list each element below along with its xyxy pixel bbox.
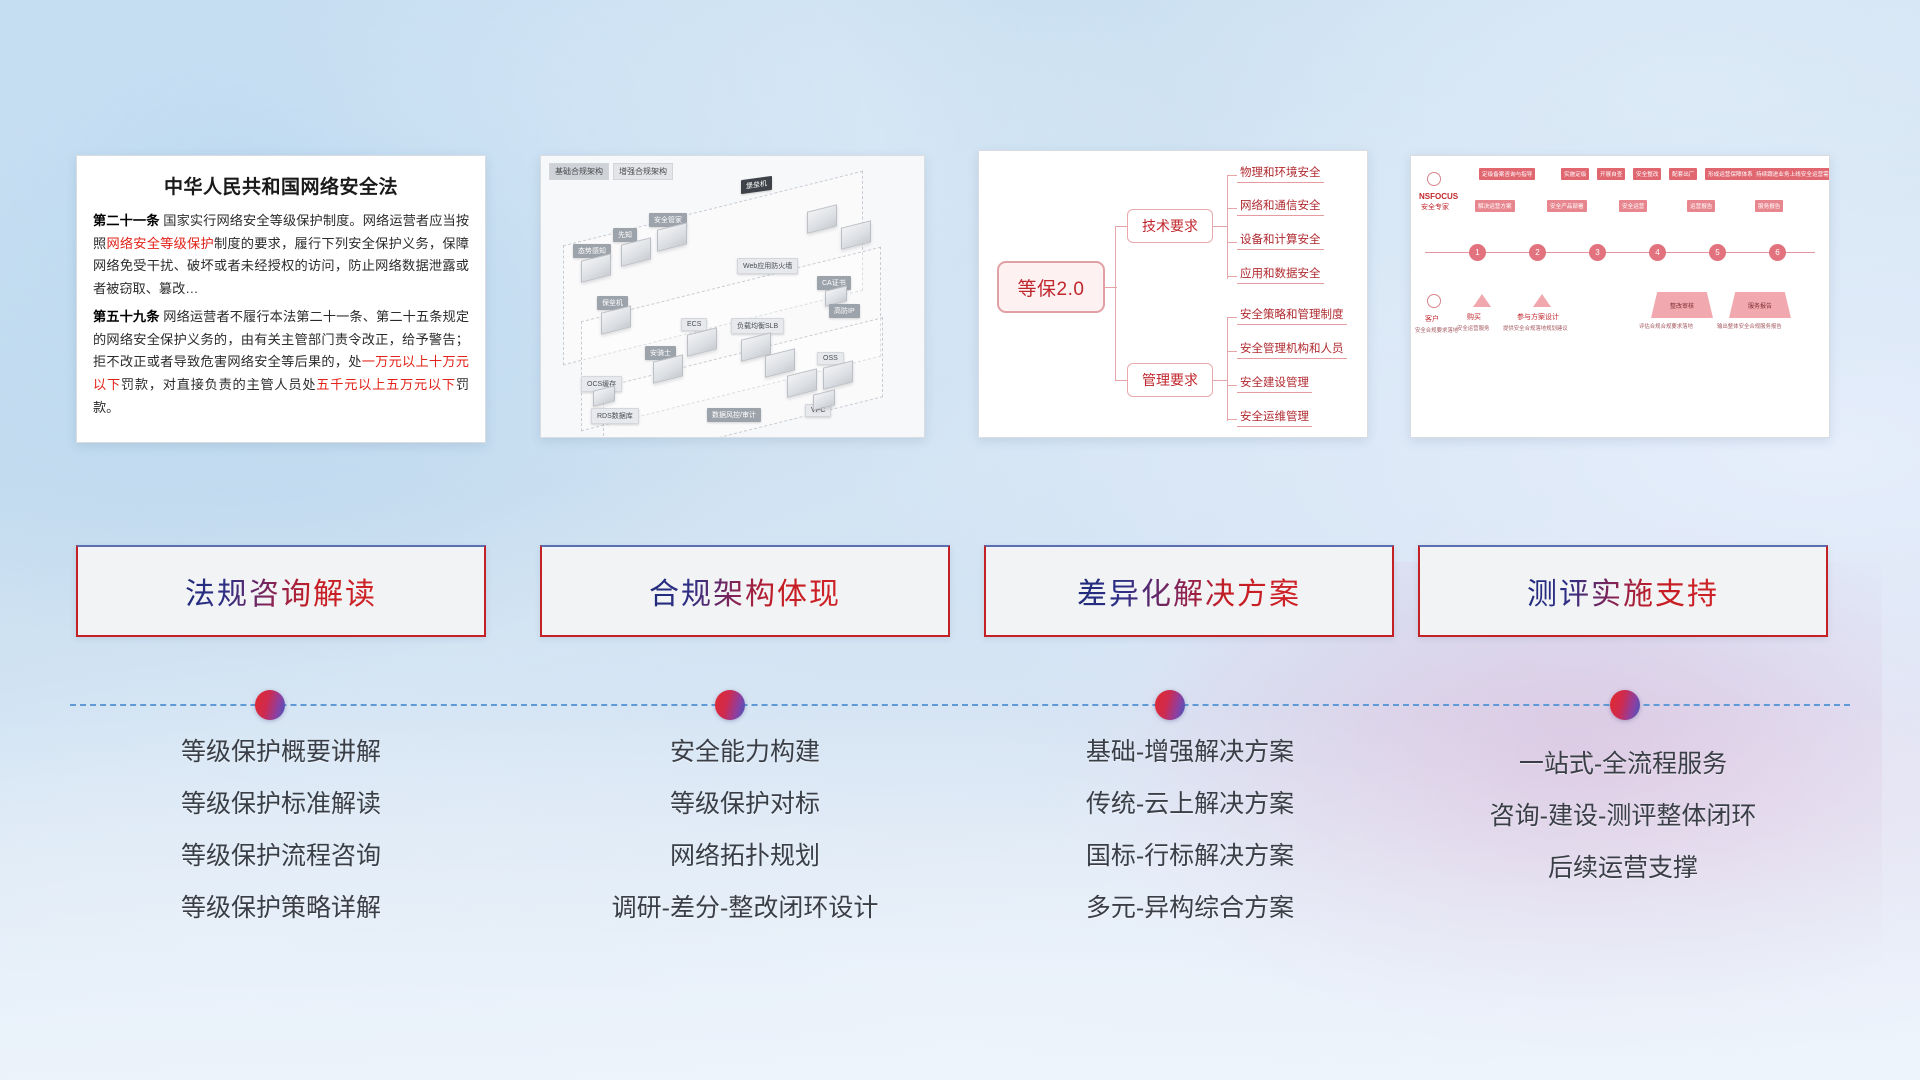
arch-node-waf: Web应用防火墙 [737,258,798,274]
roadmap-header-chip-7: 持续跟进业务上线安全运营需求 [1753,168,1830,180]
detail-column-1: 等级保护概要讲解 等级保护标准解读 等级保护流程咨询 等级保护策略详解 [76,740,486,948]
mindmap-leaf-link-t1 [1227,175,1237,176]
mindmap-leaf-spine-technical [1227,175,1228,279]
mindmap-leaf-link-t2 [1227,208,1237,209]
arch-node-xianzhi: 先知 [613,228,637,242]
architecture-canvas: 基础合规架构 增强合规架构 堡垒机 安全管家 先知 态势感知 保垒机 ECS [541,156,924,437]
illustration-card-row: 中华人民共和国网络安全法 第二十一条 国家实行网络安全等级保护制度。网络运营者应… [0,0,1920,460]
mindmap-leaf-link-m4 [1227,419,1237,420]
arch-node-anti-ddos: 高防IP [829,304,860,318]
mindmap-leaf-policy-system: 安全策略和管理制度 [1237,305,1347,325]
tab-enhanced-architecture[interactable]: 增强合规架构 [613,163,673,180]
roadmap-header-chip-4: 安全整改 [1633,168,1661,180]
detail-column-4: 一站式-全流程服务 咨询-建设-测评整体闭环 后续运营支撑 [1408,752,1838,908]
roadmap-bottom-chip-1: 购买 [1467,312,1481,322]
roadmap-brand-sub: 安全专家 [1421,202,1449,212]
mindmap-branch-technical: 技术要求 [1127,209,1213,243]
detail-item: 等级保护策略详解 [76,896,486,921]
banner-assessment-support[interactable]: 测评实施支持 [1418,545,1828,637]
law-article-21-label: 第二十一条 [93,213,160,228]
banner-differentiated-solution[interactable]: 差异化解决方案 [984,545,1394,637]
banner-regulation-consulting[interactable]: 法规咨询解读 [76,545,486,637]
roadmap-stage-chip-2: 安全产品部署 [1547,200,1587,212]
mindmap-leaf-ops-mgmt: 安全运维管理 [1237,407,1312,427]
roadmap-step-1: 1 [1469,244,1486,261]
mindmap-leaf-physical-env: 物理和环境安全 [1237,163,1324,183]
roadmap-stage-chip-3: 安全运营 [1619,200,1647,212]
roadmap-step-2: 2 [1529,244,1546,261]
roadmap-bottom-chip-2-sub: 提供安全合规落地规划建议 [1503,324,1568,332]
arch-node-risk-audit: 数据风控/审计 [707,408,761,422]
detail-item: 等级保护标准解读 [76,792,486,817]
timeline-dot-2[interactable] [715,690,745,720]
detail-item: 等级保护流程咨询 [76,844,486,869]
mindmap-connector-branch-1 [1115,226,1127,227]
tab-basic-architecture[interactable]: 基础合规架构 [549,163,609,180]
mindmap-leaf-link-m3 [1227,385,1237,386]
roadmap-bottom-tri-1 [1473,294,1491,307]
mindmap-leaf-app-data: 应用和数据安全 [1237,264,1324,284]
roadmap-bottom-tri-2 [1533,294,1551,307]
mindmap-branch-management: 管理要求 [1127,363,1213,397]
roadmap-header-chip-1: 定级备案咨询与指导 [1479,168,1535,180]
roadmap-header-chip-2: 实施定级 [1561,168,1589,180]
mindmap-leaf-link-t3 [1227,242,1237,243]
banner-label-3: 差异化解决方案 [1077,569,1301,613]
mindmap-leaf-stub-technical [1213,226,1227,227]
mindmap-leaf-stub-management [1213,380,1227,381]
banner-compliance-architecture[interactable]: 合规架构体现 [540,545,950,637]
timeline-dot-4[interactable] [1610,690,1640,720]
banner-row: 法规咨询解读 合规架构体现 差异化解决方案 测评实施支持 [0,545,1920,645]
law-article-59: 第五十九条 网络运营者不履行本法第二十一条、第二十五条规定的网络安全保护义务的，… [93,306,469,420]
detail-item: 等级保护对标 [535,792,955,817]
law-article-59-highlight-2: 五千元以上五万元以下 [316,377,456,392]
law-article-59-text-b: 罚款，对直接负责的主管人员处 [121,377,316,392]
mindmap-leaf-link-m2 [1227,351,1237,352]
roadmap-step-6: 6 [1769,244,1786,261]
timeline [0,690,1920,720]
roadmap-customer-label: 客户 [1425,314,1439,324]
card-cybersecurity-law: 中华人民共和国网络安全法 第二十一条 国家实行网络安全等级保护制度。网络运营者应… [76,155,486,443]
roadmap-customer-avatar-icon [1427,294,1441,308]
mindmap-leaf-link-t4 [1227,276,1237,277]
roadmap-bottom-right-sub-2: 输出整体安全合规服务报告 [1717,322,1782,330]
arch-node-slb: 负载均衡SLB [731,318,784,334]
law-article-59-label: 第五十九条 [93,309,160,324]
roadmap-step-5: 5 [1709,244,1726,261]
mindmap-leaf-link-m1 [1227,317,1237,318]
detail-item: 后续运营支撑 [1408,856,1838,881]
arch-node-ecs: ECS [681,318,707,331]
card-dengbao-mindmap: 等保2.0 技术要求 管理要求 物理和环境安全 网络和通信安全 设备和计算安全 [978,150,1368,438]
detail-column-3: 基础-增强解决方案 传统-云上解决方案 国标-行标解决方案 多元-异构综合方案 [980,740,1400,948]
roadmap-bottom-chip-2: 参与方案设计 [1517,312,1559,322]
roadmap-step-4: 4 [1649,244,1666,261]
roadmap-bottom-right-chip-1: 整改审核 [1651,292,1713,318]
arch-node-rds: RDS数据库 [591,408,639,424]
detail-item: 一站式-全流程服务 [1408,752,1838,777]
detail-column-2: 安全能力构建 等级保护对标 网络拓扑规划 调研-差分-整改闭环设计 [535,740,955,948]
roadmap-stage-chip-4: 运营报告 [1687,200,1715,212]
detail-item: 安全能力构建 [535,740,955,765]
arch-node-bastion: 堡垒机 [741,176,772,194]
roadmap-brand: NSFOCUS [1419,192,1458,201]
roadmap-bottom-right-chip-2: 服务报告 [1729,292,1791,318]
slide-stage: 中华人民共和国网络安全法 第二十一条 国家实行网络安全等级保护制度。网络运营者应… [0,0,1920,1080]
timeline-dot-1[interactable] [255,690,285,720]
mindmap-connector-branch-2 [1115,380,1127,381]
law-card-title: 中华人民共和国网络安全法 [93,172,469,199]
banner-label-1: 法规咨询解读 [185,569,377,613]
law-article-21-highlight: 网络安全等级保护 [106,236,214,251]
mindmap-leaf-org-personnel: 安全管理机构和人员 [1237,339,1347,359]
mindmap-leaf-spine-management [1227,317,1228,421]
detail-item: 基础-增强解决方案 [980,740,1400,765]
mindmap-root-node: 等保2.0 [997,261,1105,313]
detail-column-row: 等级保护概要讲解 等级保护标准解读 等级保护流程咨询 等级保护策略详解 安全能力… [0,740,1920,960]
detail-item: 国标-行标解决方案 [980,844,1400,869]
roadmap-header-chip-5: 配套出厂 [1669,168,1697,180]
mindmap-leaf-network-comm: 网络和通信安全 [1237,196,1324,216]
detail-item: 调研-差分-整改闭环设计 [535,896,955,921]
mindmap-canvas: 等保2.0 技术要求 管理要求 物理和环境安全 网络和通信安全 设备和计算安全 [979,151,1367,437]
mindmap-connector-spine [1115,226,1116,381]
roadmap-canvas: NSFOCUS 安全专家 定级备案咨询与指导 实施定级 开展自查 安全整改 配套… [1411,156,1829,437]
roadmap-header-chip-6: 形成运营保障体系 [1705,168,1756,180]
roadmap-expert-avatar-icon [1427,172,1441,186]
mindmap-connector-root [1105,287,1117,288]
mindmap-leaf-construction-mgmt: 安全建设管理 [1237,373,1312,393]
architecture-tabs: 基础合规架构 增强合规架构 [549,163,673,180]
roadmap-stage-chip-1: 解决运营方案 [1475,200,1515,212]
banner-label-4: 测评实施支持 [1527,569,1719,613]
detail-item: 等级保护概要讲解 [76,740,486,765]
banner-label-2: 合规架构体现 [649,569,841,613]
roadmap-bottom-right-sub-1: 评估合规合规要求落地 [1639,322,1693,330]
roadmap-stage-chip-5: 服务报告 [1755,200,1783,212]
detail-item: 传统-云上解决方案 [980,792,1400,817]
timeline-dot-3[interactable] [1155,690,1185,720]
law-article-21: 第二十一条 国家实行网络安全等级保护制度。网络运营者应当按照网络安全等级保护制度… [93,210,469,301]
detail-item: 网络拓扑规划 [535,844,955,869]
card-assessment-roadmap: NSFOCUS 安全专家 定级备案咨询与指导 实施定级 开展自查 安全整改 配套… [1410,155,1830,438]
roadmap-header-chip-3: 开展自查 [1597,168,1625,180]
roadmap-step-3: 3 [1589,244,1606,261]
roadmap-customer-sub: 安全合规要求落地 [1415,326,1458,334]
timeline-dashed-rail [70,704,1850,706]
detail-item: 咨询-建设-测评整体闭环 [1408,804,1838,829]
roadmap-bottom-chip-1-sub: 安全运营服务 [1457,324,1489,332]
card-compliance-architecture: 基础合规架构 增强合规架构 堡垒机 安全管家 先知 态势感知 保垒机 ECS [540,155,925,438]
detail-item: 多元-异构综合方案 [980,896,1400,921]
mindmap-leaf-device-compute: 设备和计算安全 [1237,230,1324,250]
